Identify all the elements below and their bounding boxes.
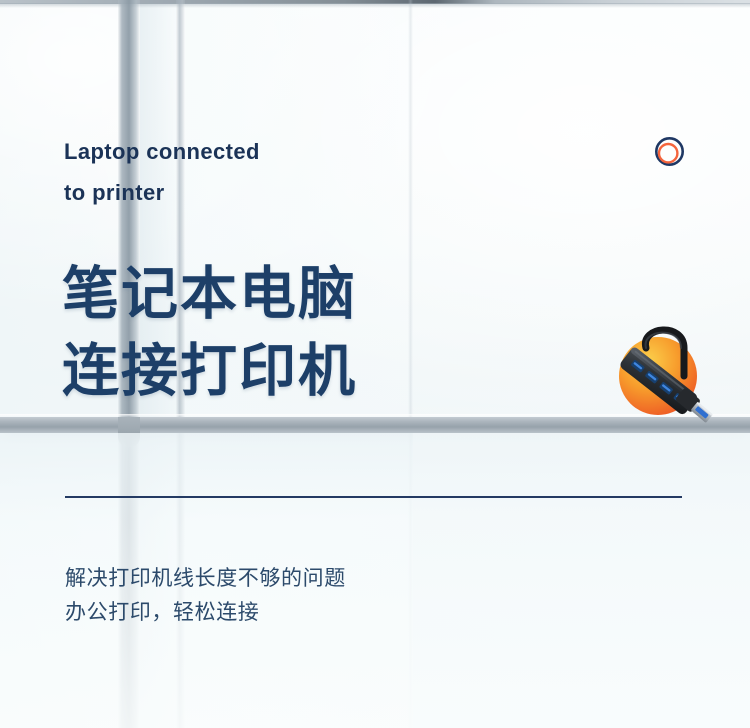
subtitle-line-2: 办公打印，轻松连接 <box>65 596 346 630</box>
horizontal-divider <box>65 496 682 498</box>
lower-right-background-wash <box>413 433 750 728</box>
promo-banner: Laptop connected to printer 笔记本电脑 连接打印机 … <box>0 0 750 728</box>
english-title-line-2: to printer <box>64 172 444 213</box>
english-title-line-1: Laptop connected <box>64 131 444 172</box>
chinese-headline-line-1: 笔记本电脑 <box>62 256 357 333</box>
ceiling-edge-shadow <box>0 3 750 8</box>
subtitle-line-1: 解决打印机线长度不够的问题 <box>65 562 346 596</box>
chinese-headline-line-2: 连接打印机 <box>62 333 357 410</box>
english-title: Laptop connected to printer <box>64 131 444 213</box>
chinese-headline: 笔记本电脑 连接打印机 <box>62 256 357 410</box>
product-image-usb-hub <box>600 318 720 436</box>
brand-logo <box>653 136 685 168</box>
logo-inner-ring-icon <box>659 144 677 162</box>
subtitle-block: 解决打印机线长度不够的问题 办公打印，轻松连接 <box>65 562 346 630</box>
